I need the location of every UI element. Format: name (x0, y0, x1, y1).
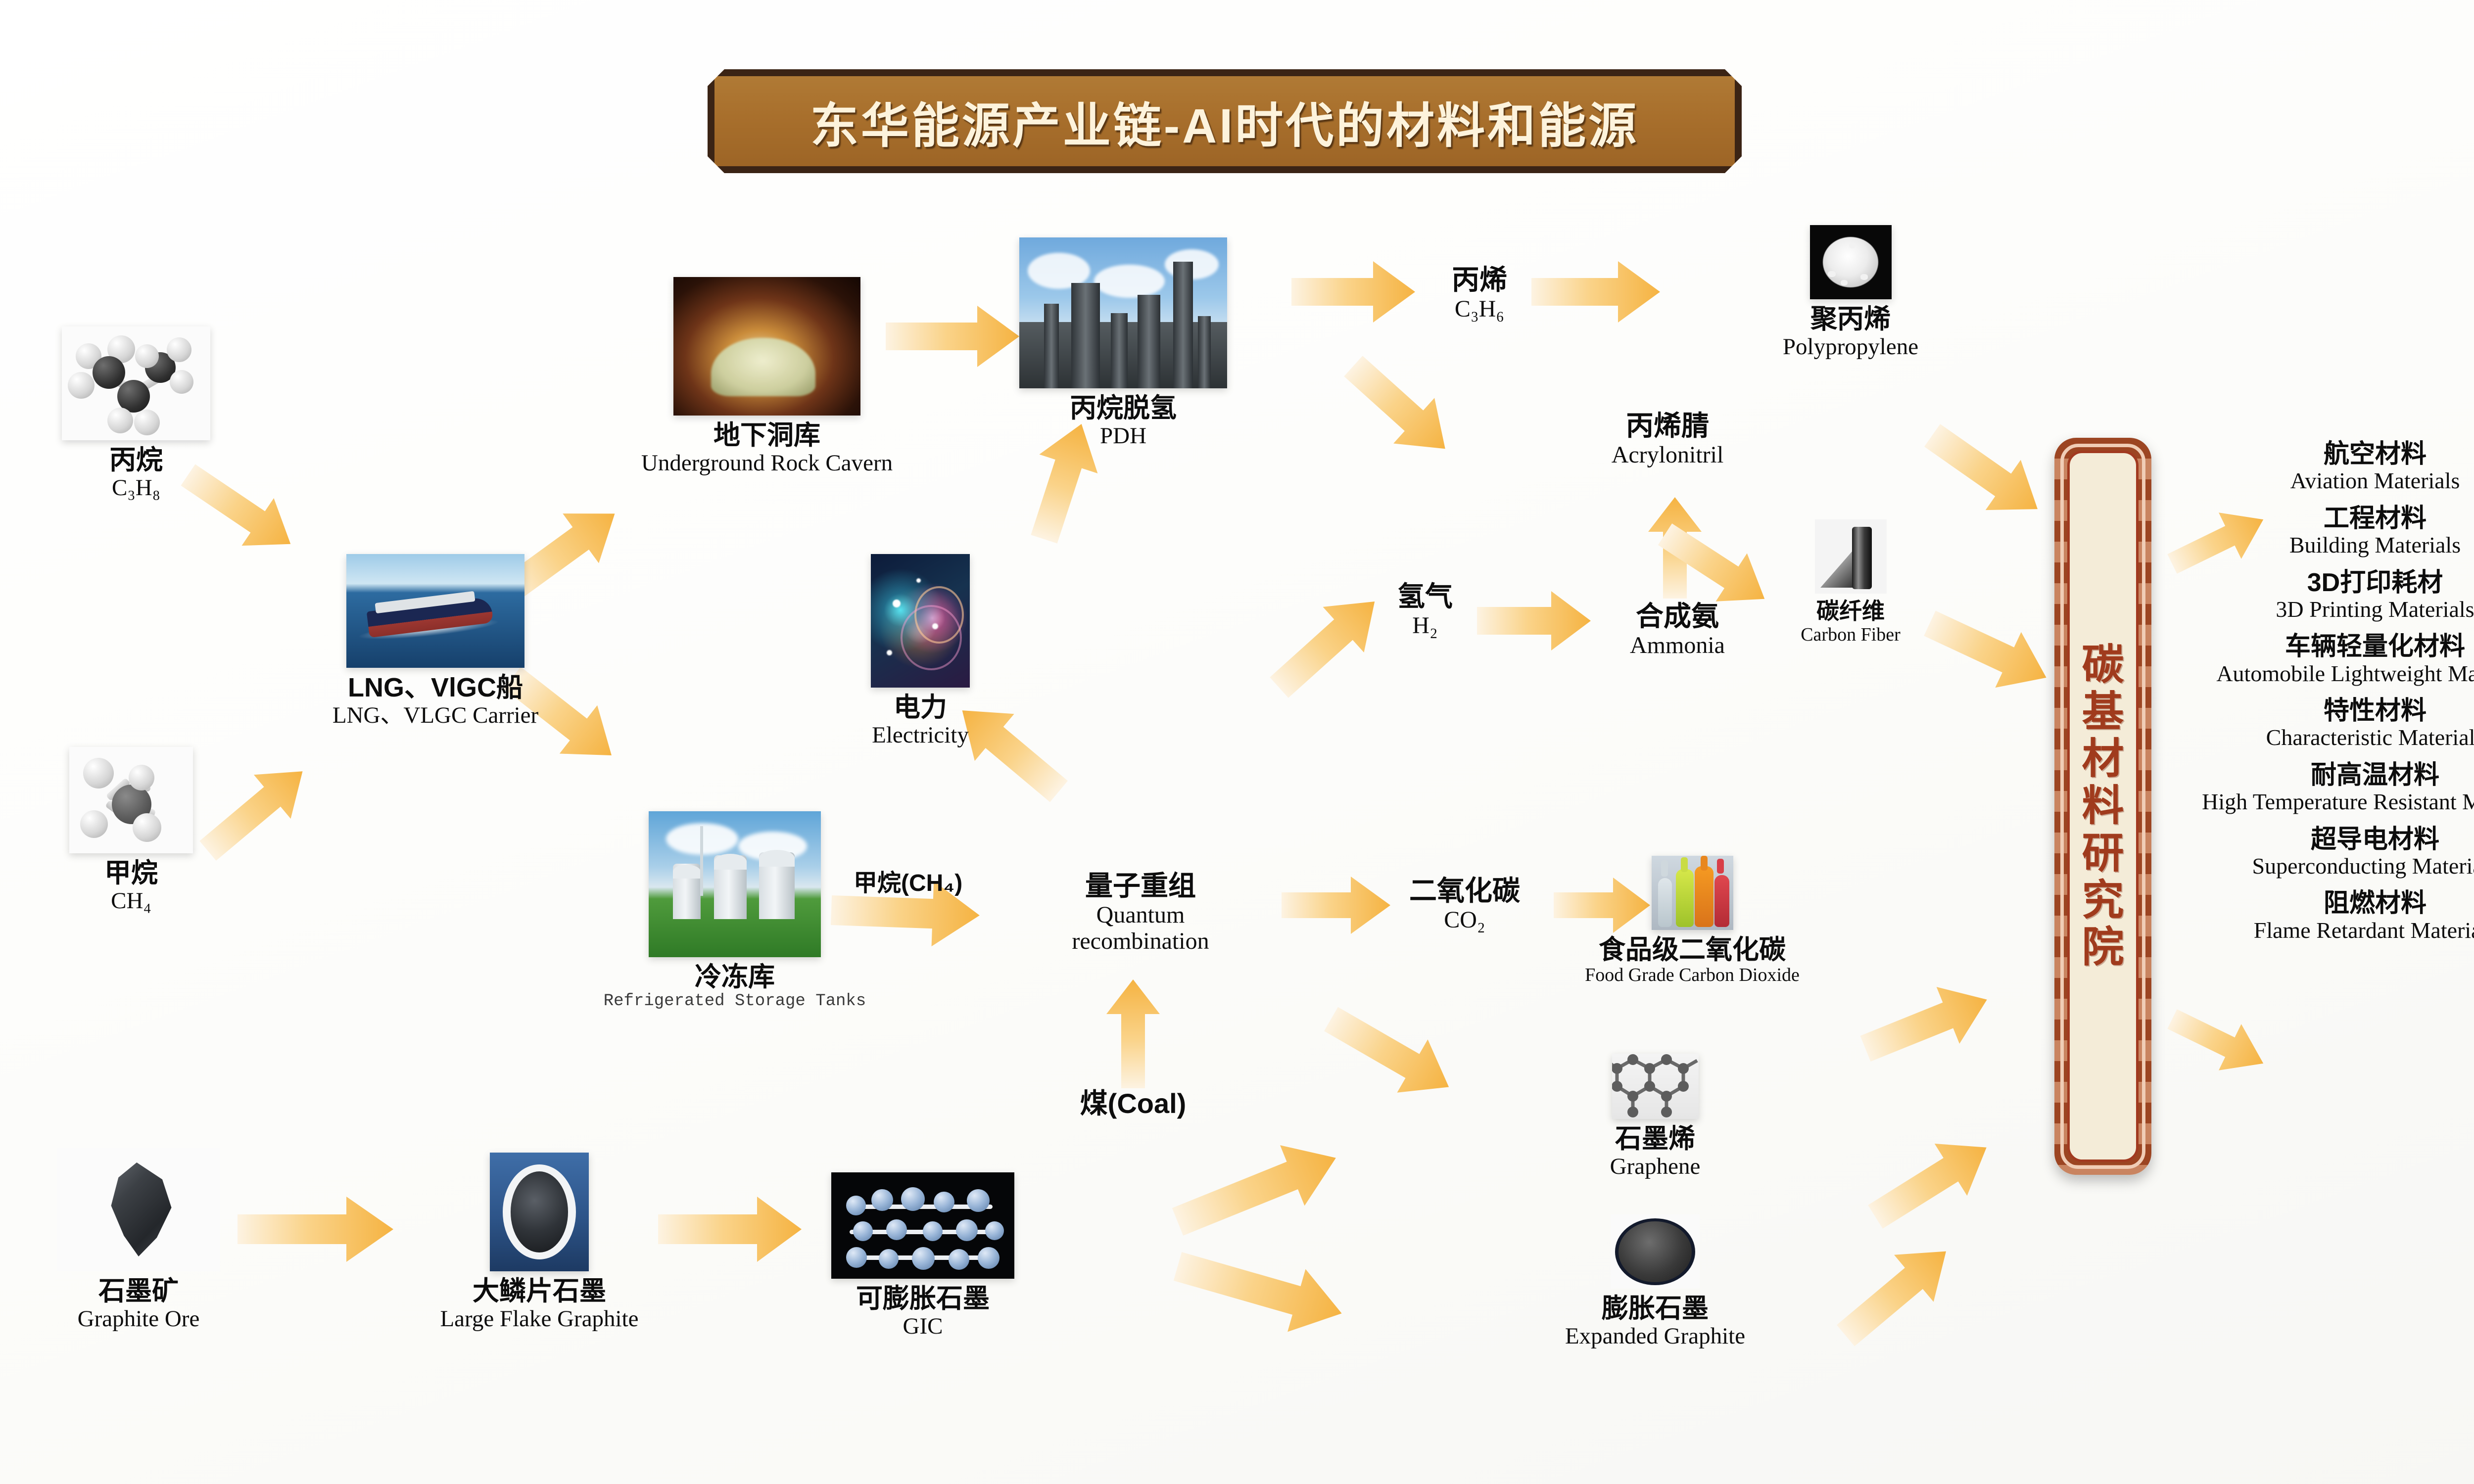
material-en-0: Aviation Materials (2192, 468, 2474, 494)
hydrogen-label-en: H₂ (1351, 612, 1499, 639)
pdh-label-cn: 丙烷脱氢 (1070, 393, 1177, 423)
carbon-fiber-label-cn: 碳纤维 (1801, 599, 1901, 624)
gic-label-cn: 可膨胀石墨 (856, 1284, 990, 1313)
electricity-label-en: Electricity (872, 722, 969, 748)
cold-storage-label-cn: 冷冻库 (604, 962, 866, 992)
node-pdh[interactable]: 丙烷脱氢 PDH (1009, 237, 1237, 449)
methane-molecule-image (69, 747, 193, 853)
material-cn-2: 3D打印耗材 (2192, 569, 2474, 597)
node-cold-storage[interactable]: 冷冻库 Refrigerated Storage Tanks (576, 811, 893, 1011)
material-en-7: Flame Retardant Materials (2192, 918, 2474, 943)
node-polypropylene[interactable]: 聚丙烯 Polypropylene (1752, 225, 1950, 360)
plaque-outer-border: 碳 基 材 料 研 究 院 (2060, 444, 2145, 1169)
cold-storage-image (649, 811, 821, 957)
cold-storage-label-en: Refrigerated Storage Tanks (604, 992, 866, 1011)
material-en-2: 3D Printing Materials (2192, 597, 2474, 622)
polypropylene-image (1810, 225, 1892, 299)
node-coal[interactable]: 煤(Coal) (1044, 1088, 1222, 1119)
material-en-6: Superconducting Materials (2192, 854, 2474, 879)
node-graphite-ore[interactable]: 石墨矿 Graphite Ore (47, 1148, 230, 1332)
node-ammonia[interactable]: 合成氨 Ammonia (1583, 601, 1771, 658)
material-cn-0: 航空材料 (2192, 440, 2474, 468)
propane-label-cn: 丙烷 (109, 445, 163, 475)
node-flake-graphite[interactable]: 大鳞片石墨 Large Flake Graphite (396, 1153, 683, 1332)
node-co2[interactable]: 二氧化碳 CO₂ (1380, 876, 1549, 933)
carbon-fiber-image (1815, 519, 1887, 594)
propylene-label-cn: 丙烯 (1400, 265, 1559, 296)
methane-label-cn: 甲烷 (104, 858, 158, 888)
material-item-flame-retardant[interactable]: 阻燃材料 Flame Retardant Materials (2192, 889, 2474, 943)
material-cn-6: 超导电材料 (2192, 826, 2474, 854)
diagram-canvas: 东华能源产业链-AI时代的材料和能源 (0, 0, 2474, 1484)
propane-molecule-image (62, 326, 210, 440)
co2-label-cn: 二氧化碳 (1380, 876, 1549, 907)
gic-label-en: GIC (856, 1313, 990, 1340)
propane-label-en: C₃H₈ (109, 475, 163, 501)
polypropylene-label-cn: 聚丙烯 (1783, 304, 1918, 334)
hydrogen-label-cn: 氢气 (1351, 581, 1499, 612)
plaque-char-4: 研 (2082, 830, 2124, 877)
polypropylene-label-en: Polypropylene (1783, 334, 1918, 360)
acrylonitrile-label-cn: 丙烯腈 (1561, 411, 1774, 442)
node-lng-carrier[interactable]: LNG、VlGC船 LNG、VLGC Carrier (277, 554, 594, 729)
lng-carrier-label-cn: LNG、VlGC船 (333, 673, 538, 702)
graphene-label-cn: 石墨烯 (1610, 1124, 1701, 1154)
graphite-ore-label-cn: 石墨矿 (78, 1276, 200, 1306)
node-food-grade-co2[interactable]: 食品级二氧化碳 Food Grade Carbon Dioxide (1551, 856, 1833, 986)
material-cn-4: 特性材料 (2192, 697, 2474, 725)
food-co2-label-cn: 食品级二氧化碳 (1585, 935, 1800, 965)
node-carbon-fiber[interactable]: 碳纤维 Carbon Fiber (1769, 519, 1932, 645)
material-item-3d-printing[interactable]: 3D打印耗材 3D Printing Materials (2192, 569, 2474, 622)
material-cn-3: 车辆轻量化材料 (2192, 633, 2474, 661)
quantum-label-cn: 量子重组 (1037, 871, 1244, 902)
plaque-char-2: 材 (2082, 736, 2124, 783)
gic-image (831, 1172, 1014, 1279)
expanded-graphite-label-en: Expanded Graphite (1565, 1323, 1745, 1349)
plaque-char-1: 基 (2082, 689, 2124, 736)
node-acrylonitrile[interactable]: 丙烯腈 Acrylonitril (1561, 411, 1774, 468)
plaque-inner-panel: 碳 基 材 料 研 究 院 (2067, 451, 2139, 1162)
propylene-label-en: C₃H₆ (1400, 296, 1559, 323)
methane-label-en: CH₄ (104, 888, 158, 914)
material-en-3: Automobile Lightweight Materials (2192, 661, 2474, 687)
material-cn-7: 阻燃材料 (2192, 889, 2474, 918)
flake-graphite-image (490, 1153, 589, 1271)
flake-graphite-label-en: Large Flake Graphite (440, 1306, 638, 1332)
node-hydrogen[interactable]: 氢气 H₂ (1351, 581, 1499, 639)
rock-cavern-image (673, 277, 860, 416)
lng-carrier-image (346, 554, 524, 668)
node-graphene[interactable]: 石墨烯 Graphene (1561, 1054, 1749, 1180)
rock-cavern-label-en: Underground Rock Cavern (641, 450, 893, 476)
material-en-4: Characteristic Materials (2192, 725, 2474, 750)
expanded-graphite-image (1611, 1214, 1700, 1289)
node-expanded-graphite[interactable]: 膨胀石墨 Expanded Graphite (1556, 1214, 1754, 1349)
material-item-automobile-lightweight[interactable]: 车辆轻量化材料 Automobile Lightweight Materials (2192, 633, 2474, 686)
lng-carrier-label-en: LNG、VLGC Carrier (333, 702, 538, 729)
expanded-graphite-label-cn: 膨胀石墨 (1565, 1294, 1745, 1323)
plaque-char-5: 究 (2082, 877, 2124, 924)
graphite-ore-label-en: Graphite Ore (78, 1306, 200, 1332)
material-item-building[interactable]: 工程材料 Building Materials (2192, 505, 2474, 558)
graphene-label-en: Graphene (1610, 1154, 1701, 1180)
food-grade-co2-image (1652, 856, 1733, 930)
food-co2-label-en: Food Grade Carbon Dioxide (1585, 965, 1800, 986)
material-item-characteristic[interactable]: 特性材料 Characteristic Materials (2192, 697, 2474, 750)
plaque-char-3: 料 (2082, 783, 2124, 830)
acrylonitrile-label-en: Acrylonitril (1561, 442, 1774, 468)
material-en-5: High Temperature Resistant Materials (2192, 789, 2474, 815)
material-item-high-temperature[interactable]: 耐高温材料 High Temperature Resistant Materia… (2192, 761, 2474, 815)
node-quantum-recombination[interactable]: 量子重组 Quantum recombination (1037, 871, 1244, 955)
material-item-aviation[interactable]: 航空材料 Aviation Materials (2192, 440, 2474, 494)
graphite-ore-image (57, 1148, 220, 1271)
coal-label: 煤(Coal) (1044, 1088, 1222, 1119)
node-rock-cavern[interactable]: 地下洞库 Underground Rock Cavern (559, 277, 975, 476)
carbon-fiber-label-en: Carbon Fiber (1801, 624, 1901, 646)
ammonia-label-en: Ammonia (1583, 632, 1771, 659)
node-methane[interactable]: 甲烷 CH₄ (49, 747, 213, 914)
output-materials-list: 航空材料 Aviation Materials 工程材料 Building Ma… (2192, 440, 2474, 954)
co2-label-en: CO₂ (1380, 907, 1549, 933)
plaque-char-6: 院 (2082, 924, 2124, 971)
rock-cavern-label-cn: 地下洞库 (641, 420, 893, 450)
material-cn-5: 耐高温材料 (2192, 761, 2474, 789)
edge-label-methane-feed: 甲烷(CH₄) (854, 863, 962, 898)
electricity-image (871, 554, 970, 688)
quantum-label-en: Quantum recombination (1037, 902, 1244, 955)
node-propylene[interactable]: 丙烯 C₃H₆ (1400, 265, 1559, 322)
node-electricity[interactable]: 电力 Electricity (821, 554, 1019, 748)
material-item-superconducting[interactable]: 超导电材料 Superconducting Materials (2192, 826, 2474, 879)
electricity-label-cn: 电力 (872, 693, 969, 722)
node-propane[interactable]: 丙烷 C₃H₈ (45, 326, 228, 501)
plaque-char-0: 碳 (2082, 642, 2124, 689)
node-gic[interactable]: 可膨胀石墨 GIC (819, 1172, 1027, 1340)
ammonia-label-cn: 合成氨 (1583, 601, 1771, 632)
pdh-label-en: PDH (1070, 423, 1177, 449)
material-en-1: Building Materials (2192, 533, 2474, 558)
material-cn-1: 工程材料 (2192, 505, 2474, 533)
flake-graphite-label-cn: 大鳞片石墨 (440, 1276, 638, 1306)
graphene-image (1612, 1054, 1699, 1119)
carbon-materials-research-institute-plaque[interactable]: 碳 基 材 料 研 究 院 (2054, 438, 2151, 1175)
pdh-plant-image (1019, 237, 1227, 388)
